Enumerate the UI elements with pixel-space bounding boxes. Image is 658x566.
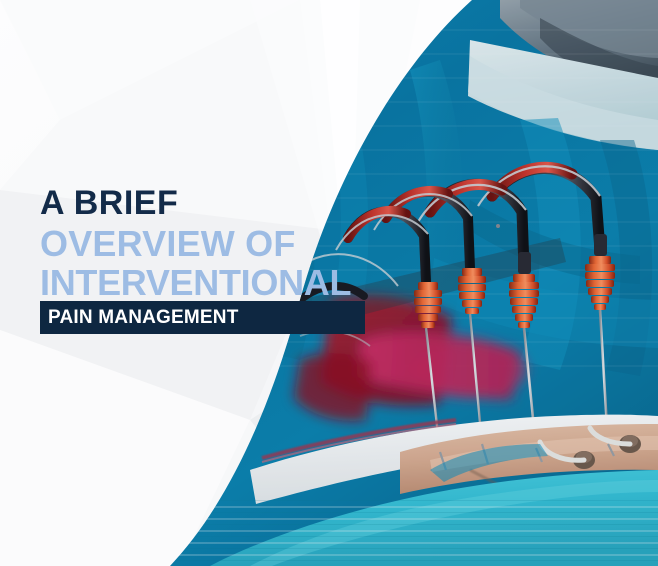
kicker-bar: PAIN MANAGEMENT: [40, 301, 365, 334]
headline-line-2: OVERVIEW OF: [40, 226, 370, 262]
headline-block: A BRIEF OVERVIEW OF INTERVENTIONAL: [40, 186, 370, 301]
kicker-label: PAIN MANAGEMENT: [40, 307, 239, 329]
headline-line-3: INTERVENTIONAL: [40, 265, 370, 301]
banner-root: A BRIEF OVERVIEW OF INTERVENTIONAL PAIN …: [0, 0, 658, 566]
headline-line-1: A BRIEF: [40, 186, 370, 220]
